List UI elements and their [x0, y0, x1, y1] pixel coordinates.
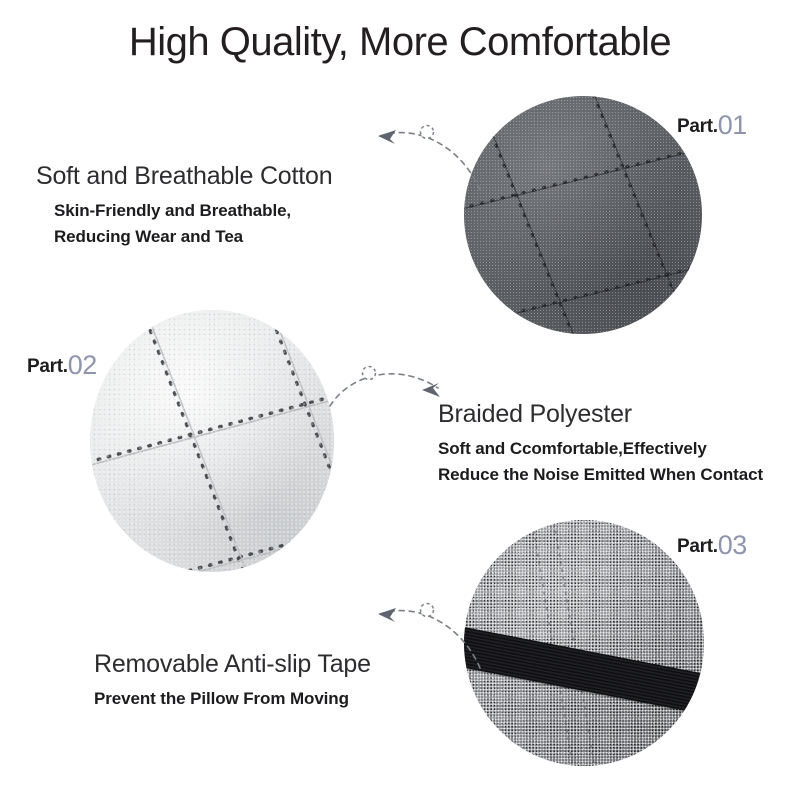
anti-slip-tape-fabric-swatch — [464, 520, 704, 766]
page-title: High Quality, More Comfortable — [0, 20, 800, 65]
arrow-break-circle-icon — [363, 367, 376, 380]
part-label-number: 01 — [718, 110, 747, 140]
part-label-03: Part.03 — [677, 530, 747, 561]
dashed-arrow-left-01 — [340, 118, 490, 198]
part-label-word: Part. — [677, 116, 718, 137]
feature-line: Reduce the Noise Emitted When Contact — [438, 462, 763, 488]
part-label-number: 03 — [718, 530, 747, 560]
light-gray-quilted-fabric-swatch — [90, 310, 334, 572]
arrowhead-icon — [378, 130, 396, 144]
arrow-break-circle-icon — [421, 126, 434, 139]
feature-heading: Soft and Breathable Cotton — [36, 162, 332, 191]
feature-block-03: Removable Anti-slip Tape Prevent the Pil… — [94, 650, 371, 712]
feature-block-01: Soft and Breathable Cotton Skin-Friendly… — [36, 162, 332, 249]
arrowhead-icon — [378, 608, 396, 622]
dark-gray-quilted-fabric-swatch — [464, 96, 702, 334]
feature-line: Prevent the Pillow From Moving — [94, 686, 371, 712]
part-label-02: Part.02 — [27, 350, 97, 381]
part-label-01: Part.01 — [677, 110, 747, 141]
part-label-word: Part. — [677, 536, 718, 557]
arrow-break-circle-icon — [421, 604, 434, 617]
feature-line: Skin-Friendly and Breathable, — [54, 198, 332, 224]
feature-heading: Removable Anti-slip Tape — [94, 650, 371, 679]
product-feature-infographic: High Quality, More Comfortable — [0, 0, 800, 800]
fabric-texture-overlay — [90, 310, 334, 572]
feature-block-02: Braided Polyester Soft and Ccomfortable,… — [438, 400, 763, 487]
arrowhead-icon — [422, 383, 440, 397]
part-label-number: 02 — [68, 350, 97, 380]
part-label-word: Part. — [27, 356, 68, 377]
feature-line: Soft and Ccomfortable,Effectively — [438, 436, 763, 462]
feature-line: Reducing Wear and Tea — [54, 224, 332, 250]
fabric-texture-overlay — [464, 96, 702, 334]
feature-heading: Braided Polyester — [438, 400, 763, 429]
